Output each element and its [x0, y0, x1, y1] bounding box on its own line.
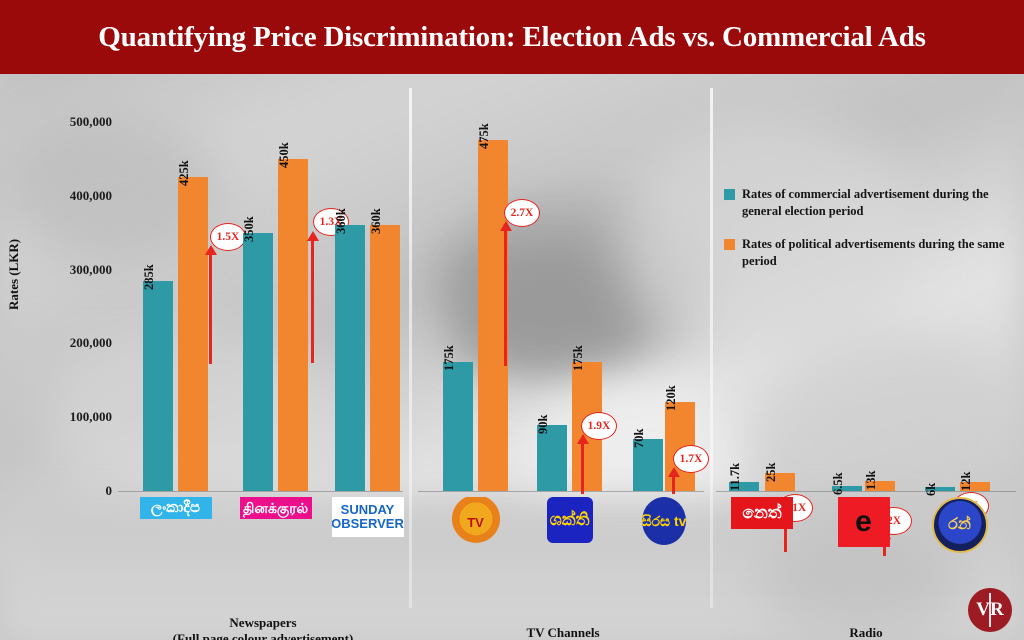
outlet-logo-ran-fm: රන්: [932, 497, 988, 553]
outlet-logo-text: නෙත්: [742, 504, 781, 522]
bar-political: [370, 225, 400, 491]
bar-value-label: 175k: [442, 345, 457, 371]
bar-value-label: 360k: [369, 209, 384, 235]
multiplier-arrow: [672, 475, 675, 494]
bar-commercial: [335, 225, 365, 491]
group-caption: (Full page colour advertisement): [118, 631, 408, 640]
outlet-logo-text: தினக்குரல்: [243, 501, 308, 516]
legend-label-commercial: Rates of commercial advertisement during…: [742, 186, 1014, 220]
multiplier-arrow: [504, 229, 507, 366]
legend-swatch-commercial: [724, 189, 735, 200]
outlet-logo-sunday-observer: SUNDAY OBSERVER: [332, 497, 404, 537]
bar-value-label: 70k: [632, 429, 647, 448]
infographic-root: Quantifying Price Discrimination: Electi…: [0, 0, 1024, 640]
panel-divider-2: [710, 88, 713, 608]
bar-value-label: 11.7k: [728, 463, 743, 491]
bar-value-label: 25k: [764, 462, 779, 481]
multiplier-badge: 1.7X: [673, 445, 709, 473]
multiplier-badge: 2.7X: [504, 199, 540, 227]
outlet-logo-e-fm-88-3: e: [838, 497, 890, 547]
bar-value-label: 360k: [334, 209, 349, 235]
y-axis-tick: 300,000: [30, 262, 112, 278]
y-axis-tick: 0: [30, 483, 112, 499]
group-name: Newspapers: [118, 615, 408, 631]
title-bar: Quantifying Price Discrimination: Electi…: [0, 0, 1024, 74]
group-name: TV Channels: [418, 625, 708, 640]
legend-swatch-political: [724, 239, 735, 250]
chart-legend: Rates of commercial advertisement during…: [724, 186, 1014, 286]
bar-value-label: 175k: [571, 345, 586, 371]
baseline-tv: [418, 491, 704, 492]
bar-value-label: 120k: [664, 386, 679, 412]
bar-political: [278, 159, 308, 491]
bar-value-label: 350k: [242, 216, 257, 242]
bar-commercial: [243, 233, 273, 491]
bar-value-label: 6k: [924, 482, 939, 495]
legend-item-commercial: Rates of commercial advertisement during…: [724, 186, 1014, 220]
bar-commercial: [443, 362, 473, 491]
group-label-tv-channels: TV Channels(10 second advertisement duri…: [418, 625, 708, 640]
group-name: Radio: [716, 625, 1016, 640]
legend-item-political: Rates of political advertisements during…: [724, 236, 1014, 270]
legend-label-political: Rates of political advertisements during…: [742, 236, 1014, 270]
multiplier-arrow: [581, 442, 584, 494]
outlet-logo-lankadeepa: ලංකාදීප: [140, 497, 212, 519]
multiplier-arrow: [311, 239, 314, 363]
page-title: Quantifying Price Discrimination: Electi…: [98, 21, 925, 54]
outlet-logo-hiru-tv: TV: [445, 497, 507, 549]
bar-commercial: [143, 281, 173, 491]
y-axis-tick: 500,000: [30, 114, 112, 130]
multiplier-arrow-head: [307, 231, 319, 241]
outlet-logo-text: ශක්ති: [550, 511, 590, 529]
outlet-logo-dinakaran: தினக்குரல்: [240, 497, 312, 519]
y-axis-label: Rates (LKR): [6, 239, 22, 310]
bar-value-label: 450k: [277, 142, 292, 168]
panel-divider-1: [409, 88, 412, 608]
baseline-newspapers: [118, 491, 403, 492]
bar-value-label: 475k: [477, 124, 492, 150]
multiplier-badge: 1.5X: [210, 223, 246, 251]
outlet-logo-neth-fm: නෙත්: [731, 497, 793, 529]
group-label-radio: Radio(10 second advertisement during the…: [716, 625, 1016, 640]
chart-area: Rates (LKR) 500,000400,000300,000200,000…: [0, 74, 1024, 640]
multiplier-arrow: [209, 253, 212, 364]
bar-value-label: 13k: [864, 471, 879, 490]
bar-value-label: 12k: [959, 472, 974, 491]
outlet-logo-sirasa-tv: සිරස tv: [642, 497, 686, 545]
outlet-logo-text: SUNDAY OBSERVER: [332, 503, 404, 530]
outlet-logo-text: ලංකාදීප: [151, 500, 200, 516]
bar-value-label: 90k: [536, 414, 551, 433]
y-axis-tick: 200,000: [30, 335, 112, 351]
outlet-logo-text: රන්: [948, 517, 971, 534]
watermark-logo: VR: [968, 588, 1012, 632]
outlet-logo-shakthi-tv: ශක්ති: [547, 497, 593, 543]
bar-value-label: 425k: [177, 161, 192, 187]
y-axis-tick: 100,000: [30, 409, 112, 425]
bar-political: [178, 177, 208, 491]
bar-value-label: 6.5k: [831, 473, 846, 496]
outlet-logo-text: e: [855, 506, 872, 538]
outlet-logo-text: TV: [467, 516, 484, 530]
group-label-newspapers: Newspapers(Full page colour advertisemen…: [118, 615, 408, 640]
y-axis-tick: 400,000: [30, 188, 112, 204]
multiplier-badge: 1.9X: [581, 412, 617, 440]
bar-value-label: 285k: [142, 264, 157, 290]
bar-commercial: [537, 425, 567, 491]
outlet-logo-text: සිරස tv: [642, 514, 686, 529]
